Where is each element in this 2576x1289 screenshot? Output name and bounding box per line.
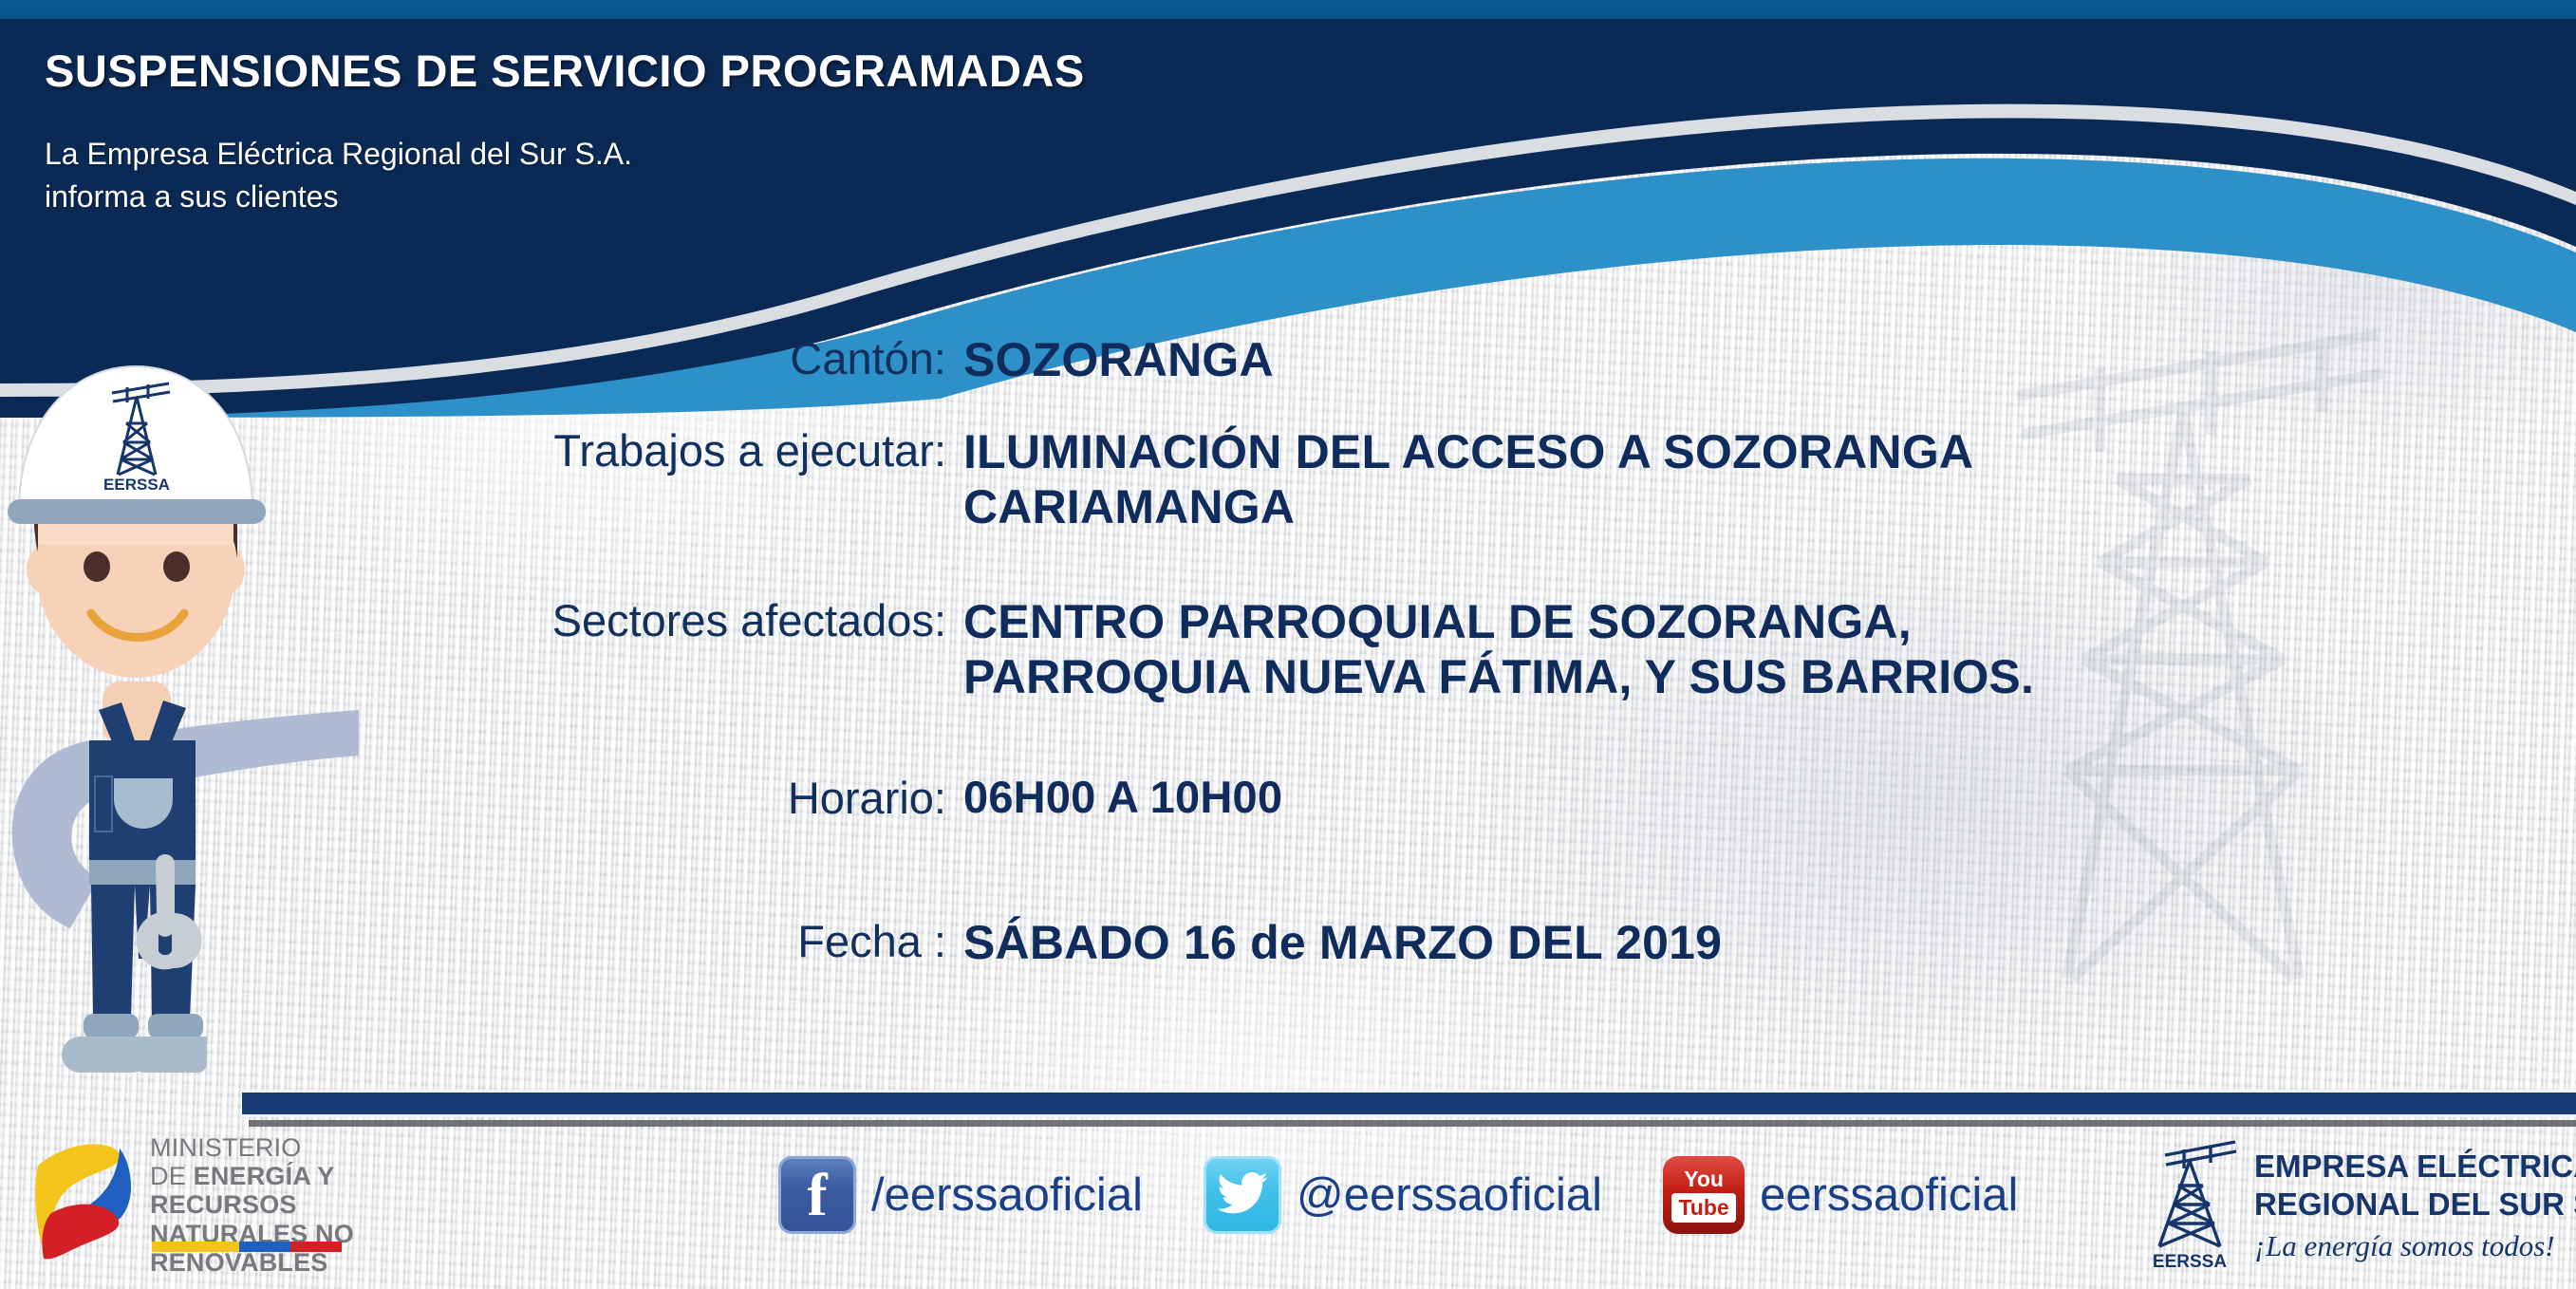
ministry-line2-thin: DE	[150, 1162, 194, 1190]
facebook-icon[interactable]: f	[778, 1156, 856, 1234]
youtube-icon[interactable]: You Tube	[1663, 1156, 1745, 1234]
detail-label-canton: Cantón:	[0, 332, 963, 384]
youtube-glyph-top: You	[1684, 1168, 1724, 1190]
detail-label-fecha: Fecha :	[0, 915, 963, 967]
youtube-glyph-bottom: Tube	[1671, 1193, 1735, 1223]
detail-row: Sectores afectados: CENTRO PARROQUIAL DE…	[0, 594, 2576, 705]
detail-row: Fecha : SÁBADO 16 de MARZO DEL 2019	[0, 915, 2576, 971]
detail-value-trabajos: ILUMINACIÓN DEL ACCESO A SOZORANGA CARIA…	[963, 424, 1973, 535]
ministry-line1: MINISTERIO	[150, 1133, 473, 1162]
social-links: f /eerssaoficial @eerssaoficial You Tube…	[778, 1156, 2079, 1234]
top-accent-strip	[0, 0, 2576, 19]
flag-red	[290, 1242, 342, 1252]
header-subtitle: La Empresa Eléctrica Regional del Sur S.…	[45, 133, 632, 219]
twitter-link[interactable]: @eerssaoficial	[1204, 1156, 1663, 1234]
flag-yellow	[152, 1242, 239, 1252]
detail-value-sectores: CENTRO PARROQUIAL DE SOZORANGA, PARROQUI…	[963, 594, 2034, 705]
poster-root: SUSPENSIONES DE SERVICIO PROGRAMADAS La …	[0, 0, 2576, 1289]
eerssa-slogan: ¡La energía somos todos!	[2254, 1229, 2576, 1263]
twitter-handle: @eerssaoficial	[1297, 1168, 1602, 1222]
footer-divider-bar	[242, 1090, 2576, 1117]
detail-value-canton: SOZORANGA	[963, 332, 1274, 388]
youtube-link[interactable]: You Tube eerssaoficial	[1663, 1156, 2079, 1234]
flag-blue	[239, 1242, 290, 1252]
header-subtitle-line1: La Empresa Eléctrica Regional del Sur S.…	[45, 133, 632, 176]
ministry-logo-block: MINISTERIO DE ENERGÍA Y RECURSOS NATURAL…	[27, 1128, 473, 1270]
eerssa-name-line1: EMPRESA ELÉCTRICA	[2254, 1148, 2576, 1186]
facebook-link[interactable]: f /eerssaoficial	[778, 1156, 1204, 1234]
eerssa-name-block: EMPRESA ELÉCTRICA REGIONAL DEL SUR S.A. …	[2254, 1148, 2576, 1262]
ministry-line2: DE ENERGÍA Y RECURSOS	[150, 1162, 473, 1219]
header-subtitle-line2: informa a sus clientes	[45, 176, 632, 218]
twitter-icon[interactable]	[1204, 1156, 1281, 1234]
ecuador-swirl-icon	[27, 1131, 148, 1264]
detail-label-sectores: Sectores afectados:	[0, 594, 963, 646]
eerssa-company-logo: EERSSA EMPRESA ELÉCTRICA REGIONAL DEL SU…	[2131, 1130, 2576, 1281]
detail-row: Trabajos a ejecutar: ILUMINACIÓN DEL ACC…	[0, 424, 2576, 535]
detail-value-fecha: SÁBADO 16 de MARZO DEL 2019	[963, 915, 1722, 971]
eerssa-name-line2: REGIONAL DEL SUR S.A.	[2254, 1186, 2576, 1224]
page-title: SUSPENSIONES DE SERVICIO PROGRAMADAS	[45, 45, 1085, 97]
facebook-glyph: f	[781, 1163, 853, 1226]
detail-value-horario: 06H00 A 10H00	[963, 772, 1282, 824]
detail-row: Cantón: SOZORANGA	[0, 332, 2576, 388]
facebook-handle: /eerssaoficial	[871, 1168, 1143, 1222]
ecuador-flag-rule	[152, 1242, 342, 1252]
details-list: Cantón: SOZORANGA Trabajos a ejecutar: I…	[0, 313, 2576, 970]
eerssa-tower-label: EERSSA	[2153, 1252, 2227, 1272]
footer-divider-shadow	[249, 1120, 2576, 1127]
youtube-handle: eerssaoficial	[1760, 1168, 2018, 1222]
detail-row: Horario: 06H00 A 10H00	[0, 772, 2576, 824]
eerssa-tower-icon: EERSSA	[2131, 1134, 2245, 1277]
ministry-name: MINISTERIO DE ENERGÍA Y RECURSOS NATURAL…	[150, 1133, 473, 1277]
detail-label-horario: Horario:	[0, 772, 963, 824]
detail-label-trabajos: Trabajos a ejecutar:	[0, 424, 963, 476]
